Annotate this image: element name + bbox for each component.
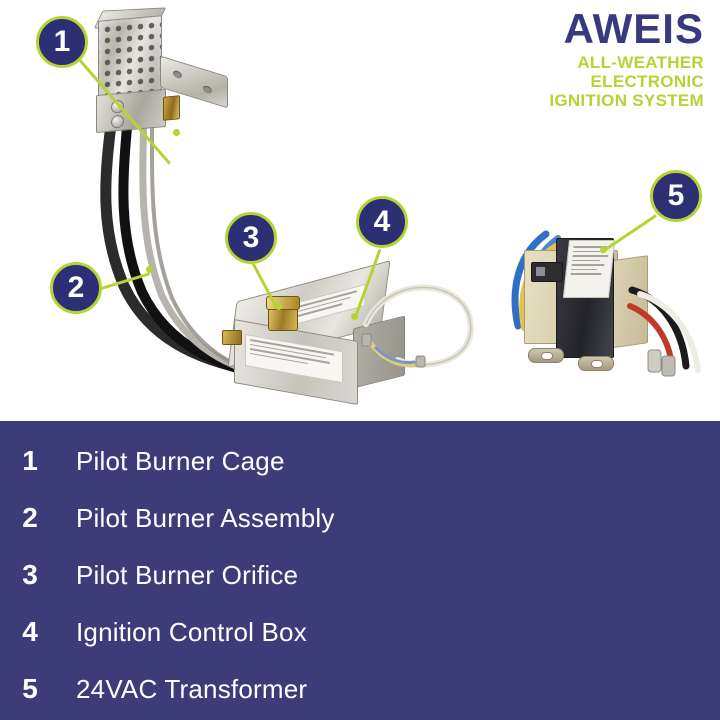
callout-badge-2[interactable]: 2 — [50, 262, 102, 314]
leader-dot-5 — [600, 246, 607, 253]
legend-item-4: 4 Ignition Control Box — [0, 612, 720, 652]
legend-item-3: 3 Pilot Burner Orifice — [0, 555, 720, 595]
callout-badge-4[interactable]: 4 — [356, 196, 408, 248]
transformer-secondary-leads — [626, 272, 718, 382]
aweis-logo: AWEIS ALL-WEATHER ELECTRONIC IGNITION SY… — [549, 8, 704, 109]
legend-item-2: 2 Pilot Burner Assembly — [0, 498, 720, 538]
transformer-circuit-breaker[interactable] — [531, 262, 563, 282]
cage-perforations — [99, 16, 161, 99]
leader-dot-4 — [351, 313, 358, 320]
transformer-mounting-foot-right — [578, 356, 614, 371]
legend-panel: 1 Pilot Burner Cage 2 Pilot Burner Assem… — [0, 421, 720, 720]
logo-tagline-line-2: ELECTRONIC — [549, 73, 704, 90]
legend-label-3: Pilot Burner Orifice — [76, 560, 298, 591]
leader-dot-2 — [146, 266, 153, 273]
product-diagram: AWEIS ALL-WEATHER ELECTRONIC IGNITION SY… — [0, 0, 720, 720]
legend-item-1: 1 Pilot Burner Cage — [0, 441, 720, 481]
legend-label-4: Ignition Control Box — [76, 617, 307, 648]
callout-badge-4-number: 4 — [374, 205, 391, 239]
legend-label-2: Pilot Burner Assembly — [76, 503, 335, 534]
callout-badge-1-number: 1 — [54, 25, 71, 59]
callout-badge-2-number: 2 — [68, 271, 85, 305]
legend-number-3: 3 — [4, 559, 56, 591]
legend-label-5: 24VAC Transformer — [76, 674, 307, 705]
legend-number-4: 4 — [4, 616, 56, 648]
callout-badge-1[interactable]: 1 — [36, 16, 88, 68]
logo-tagline-line-3: IGNITION SYSTEM — [549, 92, 704, 109]
logo-brand-name: AWEIS — [549, 8, 704, 50]
callout-badge-3[interactable]: 3 — [225, 212, 277, 264]
legend-number-5: 5 — [4, 673, 56, 705]
legend-item-5: 5 24VAC Transformer — [0, 669, 720, 709]
leader-dot-3 — [275, 303, 282, 310]
burner-cage-body — [98, 15, 162, 101]
leader-line-5 — [600, 214, 656, 253]
control-box-front-label — [245, 334, 343, 383]
control-box-left-fitting — [222, 330, 242, 345]
legend-label-1: Pilot Burner Cage — [76, 446, 285, 477]
burner-brass-fitting — [163, 95, 180, 121]
leader-dot-1 — [173, 129, 180, 136]
legend-number-2: 2 — [4, 502, 56, 534]
transformer-mounting-foot-left — [528, 348, 564, 363]
logo-tagline: ALL-WEATHER ELECTRONIC IGNITION SYSTEM — [549, 54, 704, 109]
logo-tagline-line-1: ALL-WEATHER — [549, 54, 704, 71]
burner-base-block — [96, 89, 166, 133]
control-box-wire-loop — [358, 276, 488, 386]
callout-badge-3-number: 3 — [243, 221, 260, 255]
callout-badge-5-number: 5 — [668, 179, 685, 213]
callout-badge-5[interactable]: 5 — [650, 170, 702, 222]
legend-number-1: 1 — [4, 445, 56, 477]
